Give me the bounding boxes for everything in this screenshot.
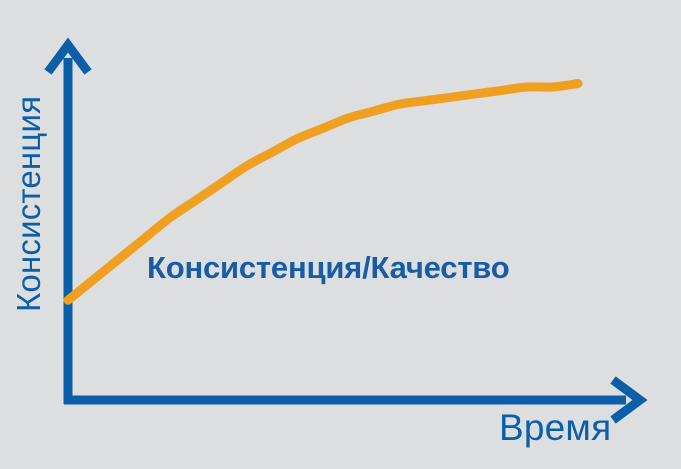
series-annotation-label: Консистенция/Качество: [147, 250, 510, 286]
chart-canvas: [0, 0, 681, 469]
y-axis-title: Консистенция: [12, 96, 45, 312]
growth-curve-chart: Консистенция Время Консистенция/Качество: [0, 0, 681, 469]
x-axis-title: Время: [499, 409, 611, 446]
y-axis: [48, 45, 88, 404]
